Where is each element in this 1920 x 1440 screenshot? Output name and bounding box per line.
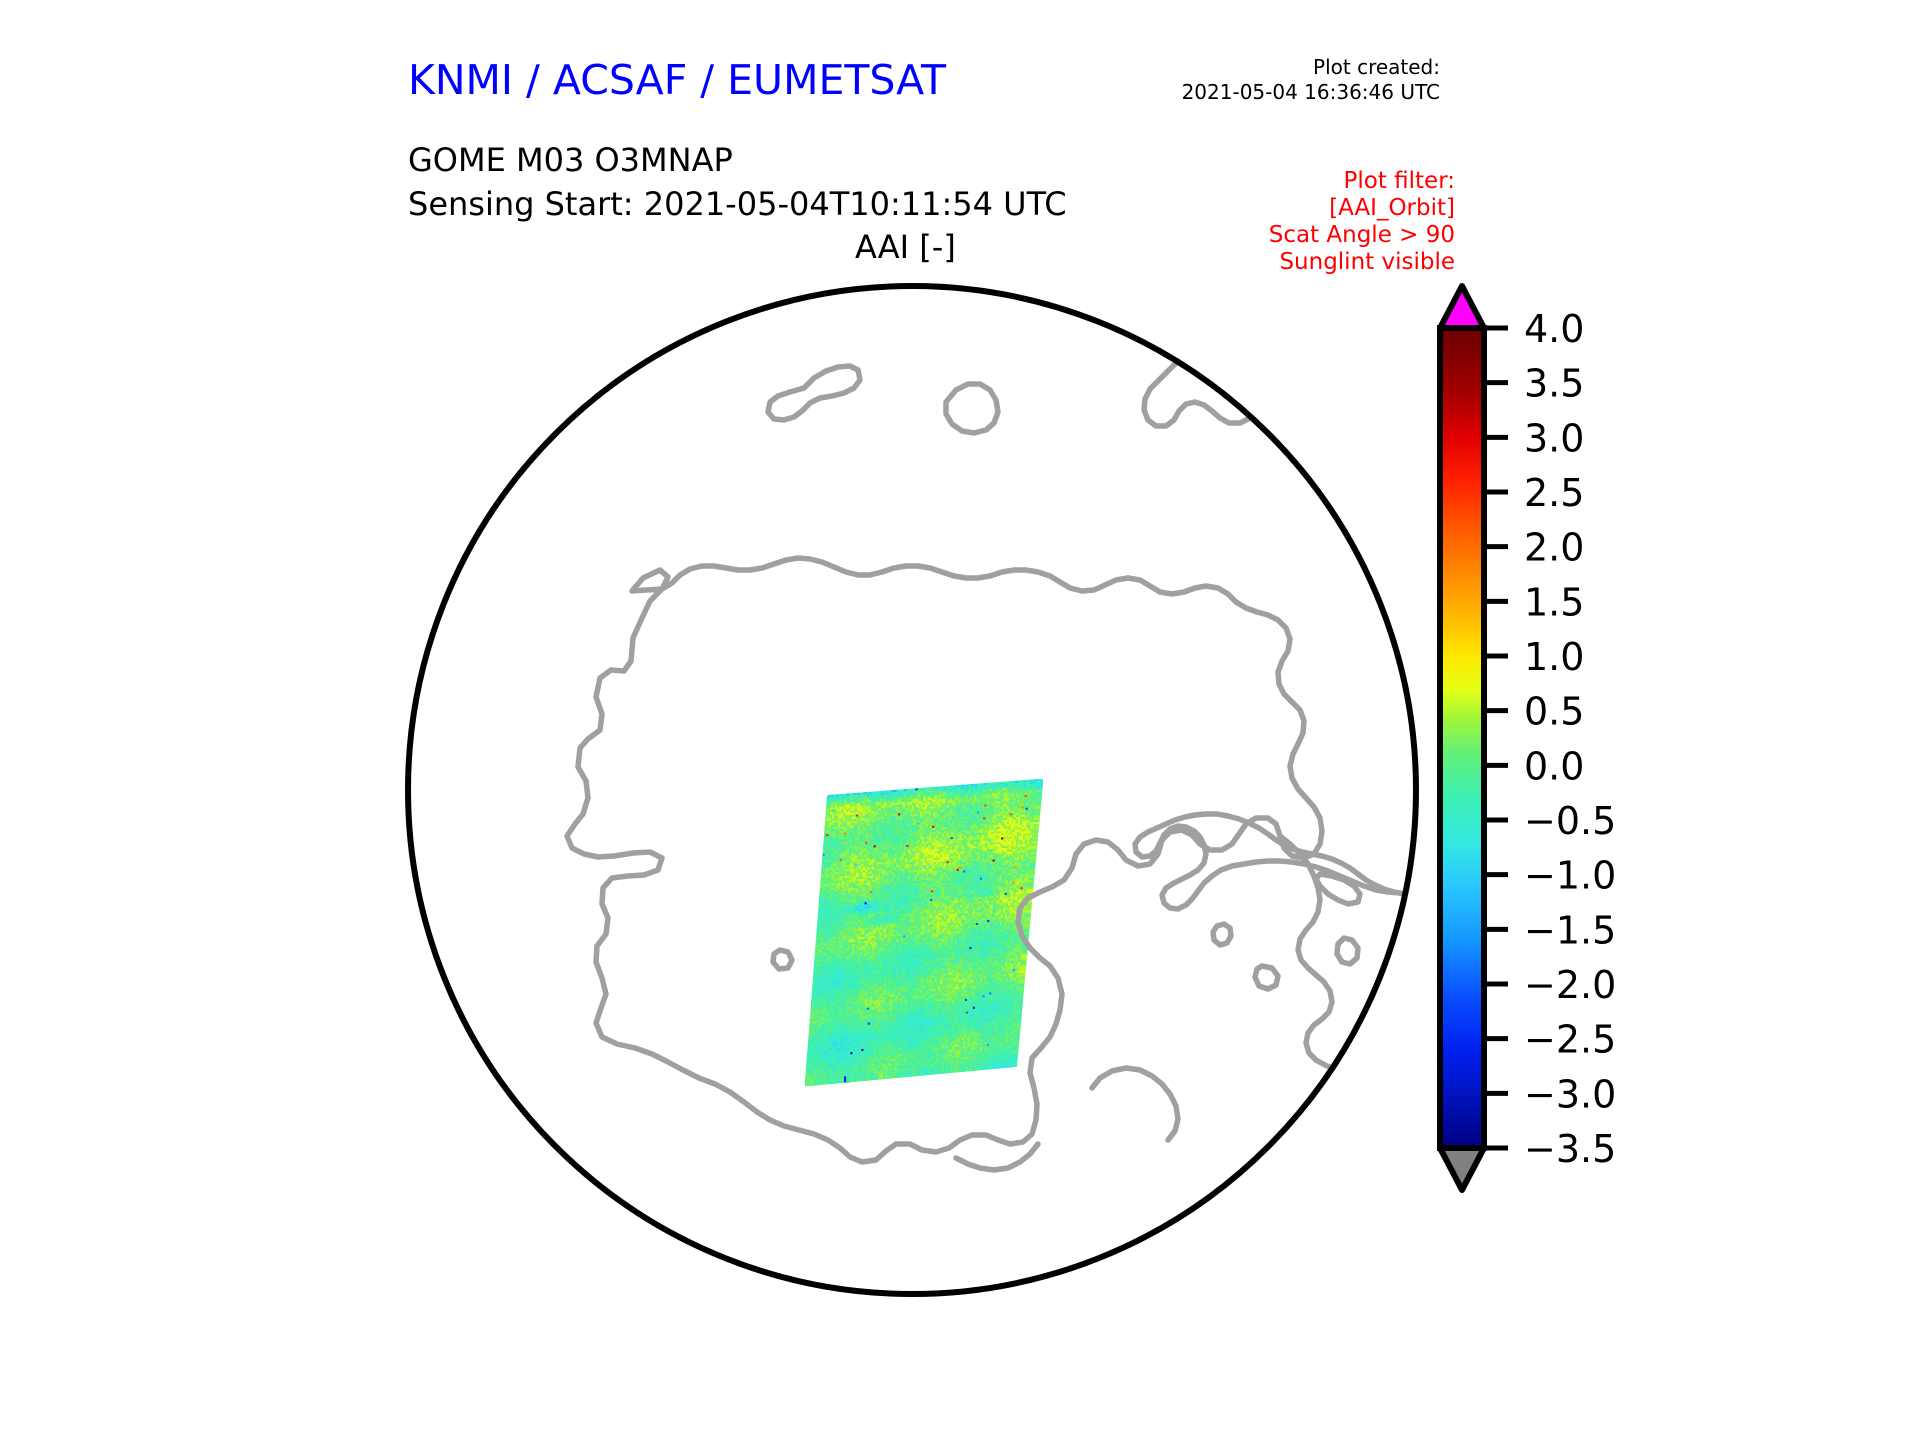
data-swath-layer <box>805 779 1043 1086</box>
plot-created-block: Plot created: 2021-05-04 16:36:46 UTC <box>1182 55 1440 105</box>
coastline-ross-island <box>773 950 792 969</box>
colorbar-tick-label: −3.5 <box>1524 1127 1616 1171</box>
dataset-name: GOME M03 O3MNAP <box>408 138 1067 182</box>
coastline-australia-sliver <box>768 366 860 420</box>
plot-filter-scat-angle: Scat Angle > 90 <box>1269 222 1455 249</box>
colorbar-tick-label: 3.5 <box>1524 362 1584 406</box>
colorbar-under-arrow <box>1440 1148 1484 1190</box>
colorbar-tick-label: 4.0 <box>1524 307 1584 351</box>
sensing-start: Sensing Start: 2021-05-04T10:11:54 UTC <box>408 182 1067 226</box>
colorbar-tick-label: −2.5 <box>1524 1018 1616 1062</box>
plot-filter-block: Plot filter: [AAI_Orbit] Scat Angle > 90… <box>1269 168 1455 276</box>
colorbar-tick-label: 1.0 <box>1524 635 1584 679</box>
colorbar-tick-label: −2.0 <box>1524 963 1616 1007</box>
colorbar-ticks: 4.03.53.02.52.01.51.00.50.0−0.5−1.0−1.5−… <box>1484 307 1616 1171</box>
provider-title: KNMI / ACSAF / EUMETSAT <box>408 56 946 104</box>
coastline-new-zealand-north <box>1272 298 1313 344</box>
colorbar-gradient-bar <box>1440 328 1484 1148</box>
colorbar-tick-label: −0.5 <box>1524 799 1616 843</box>
coastline-island-a <box>1337 938 1358 964</box>
plot-filter-label: Plot filter: <box>1269 168 1455 195</box>
colorbar-tick-label: 0.0 <box>1524 744 1584 788</box>
plot-canvas: KNMI / ACSAF / EUMETSAT Plot created: 20… <box>0 0 1920 1440</box>
coastline-island-b <box>1255 966 1278 989</box>
map-svg <box>400 278 1424 1302</box>
plot-created-label: Plot created: <box>1182 55 1440 80</box>
map-plot-area <box>400 278 1424 1302</box>
colorbar-tick-label: 1.5 <box>1524 580 1584 624</box>
colorbar-tick-label: −3.0 <box>1524 1072 1616 1116</box>
coastline-small-isle-c <box>1394 1020 1412 1039</box>
coastline-ross-sea <box>1092 1068 1178 1140</box>
colorbar-tick-label: 0.5 <box>1524 690 1584 734</box>
colorbar-tick-label: 2.0 <box>1524 526 1584 570</box>
dataset-block: GOME M03 O3MNAP Sensing Start: 2021-05-0… <box>408 138 1067 226</box>
colorbar-over-arrow <box>1440 286 1484 328</box>
colorbar-svg: 4.03.53.02.52.01.51.00.50.0−0.5−1.0−1.5−… <box>1432 282 1852 1310</box>
plot-filter-variable: [AAI_Orbit] <box>1269 195 1455 222</box>
plot-filter-sunglint: Sunglint visible <box>1269 249 1455 276</box>
coastline-weddell <box>956 1144 1038 1170</box>
colorbar-tick-label: −1.0 <box>1524 854 1616 898</box>
plot-created-timestamp: 2021-05-04 16:36:46 UTC <box>1182 80 1440 105</box>
colorbar-tick-label: 3.0 <box>1524 416 1584 460</box>
quantity-title: AAI [-] <box>855 228 956 266</box>
coastline-new-zealand-south <box>1144 316 1276 426</box>
coastline-falkland-islands <box>1213 924 1231 945</box>
colorbar-tick-label: −1.5 <box>1524 908 1616 952</box>
coastline-tasmania <box>946 384 998 433</box>
colorbar: 4.03.53.02.52.01.51.00.50.0−0.5−1.0−1.5−… <box>1432 282 1852 1310</box>
colorbar-tick-label: 2.5 <box>1524 471 1584 515</box>
